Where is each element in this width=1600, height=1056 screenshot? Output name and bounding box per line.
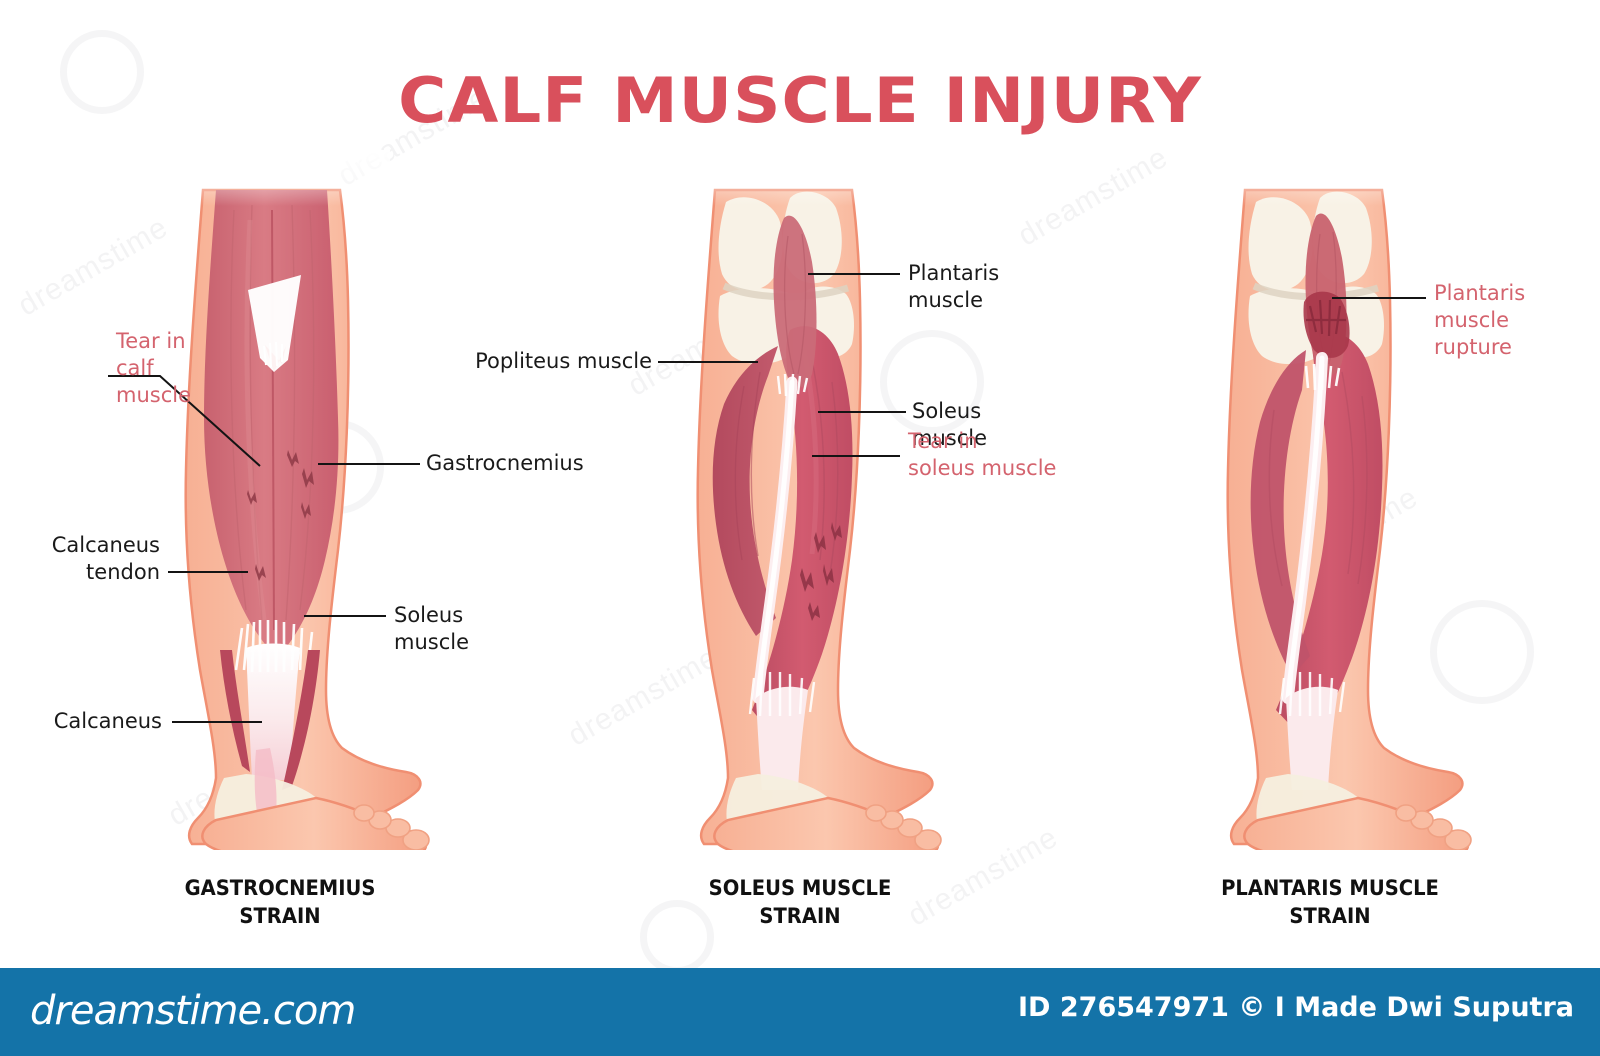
label-soleus-muscle: Soleus muscle	[394, 602, 540, 656]
infographic-canvas: dreamstime dreamstime dreamstime dreamst…	[0, 0, 1600, 1056]
label-calcaneus: Calcaneus	[20, 708, 162, 735]
caption-line-2: STRAIN	[1088, 902, 1572, 930]
soleus-leader-lines	[540, 150, 1060, 850]
label-plantaris-muscle-rupture: Plantaris muscle rupture	[1434, 280, 1574, 361]
label-plantaris-muscle: Plantaris muscle	[908, 260, 1060, 314]
panel-gastrocnemius-strain: Tear in calf muscle Gastrocnemius Calcan…	[20, 150, 540, 930]
label-popliteus-muscle: Popliteus muscle	[430, 348, 652, 375]
gastrocnemius-leader-lines	[20, 150, 540, 850]
image-credit: ID 276547971 © I Made Dwi Suputra	[1018, 992, 1574, 1023]
caption-gastrocnemius-strain: GASTROCNEMIUS STRAIN	[38, 874, 522, 930]
dreamstime-logo[interactable]: dreamstime.com	[30, 988, 355, 1034]
caption-plantaris-muscle-strain: PLANTARIS MUSCLE STRAIN	[1088, 874, 1572, 930]
caption-line-2: STRAIN	[38, 902, 522, 930]
label-tear-in-calf-muscle: Tear in calf muscle	[116, 328, 226, 409]
plantaris-leader-lines	[1070, 150, 1590, 850]
panel-plantaris-muscle-strain: Plantaris muscle rupture PLANTARIS MUSCL…	[1070, 150, 1590, 930]
watermark-footer-bar: dreamstime.com ID 276547971 © I Made Dwi…	[0, 968, 1600, 1056]
label-tear-in-soleus-muscle: Tear in soleus muscle	[908, 428, 1056, 482]
caption-line-1: SOLEUS MUSCLE	[558, 874, 1042, 902]
caption-line-1: PLANTARIS MUSCLE	[1088, 874, 1572, 902]
caption-line-2: STRAIN	[558, 902, 1042, 930]
label-calcaneus-tendon: Calcaneus tendon	[20, 532, 160, 586]
page-title: CALF MUSCLE INJURY	[0, 64, 1600, 137]
caption-line-1: GASTROCNEMIUS	[38, 874, 522, 902]
dreamstime-logo-text: dreamstime.com	[30, 988, 355, 1034]
caption-soleus-muscle-strain: SOLEUS MUSCLE STRAIN	[558, 874, 1042, 930]
panel-soleus-muscle-strain: Plantaris muscle Popliteus muscle Soleus…	[540, 150, 1060, 930]
